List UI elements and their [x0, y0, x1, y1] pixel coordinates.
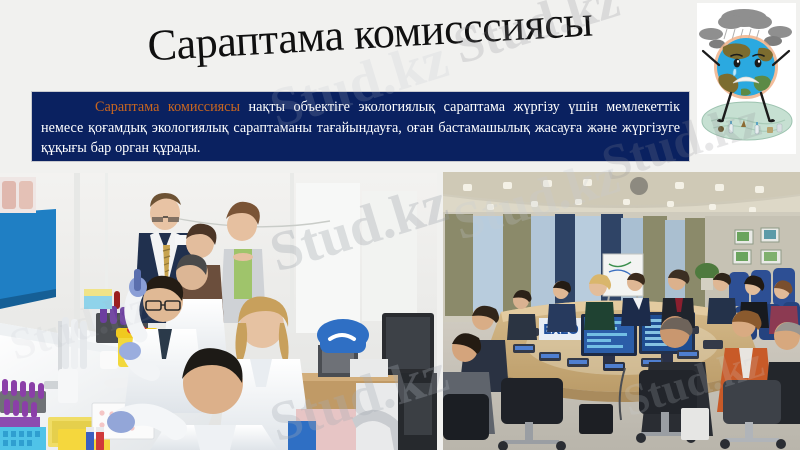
highlighted-term: Сараптама комиссиясы [95, 99, 240, 115]
page-title: Сараптама комисссиясы [59, 0, 681, 79]
lab-photo-graphic [0, 173, 437, 450]
title-container: Сараптама комисссиясы [60, 2, 680, 82]
commission-meeting-photo: EXEO [443, 172, 800, 450]
laboratory-inspection-photo [0, 173, 437, 450]
meeting-photo-graphic: EXEO [443, 172, 800, 450]
watermark: Stud.kz [447, 0, 626, 76]
presentation-slide: Сараптама комисссиясы Сараптама комиссия… [0, 0, 800, 450]
sad-earth-icon [697, 3, 796, 154]
definition-text-box: Сараптама комиссиясы нақты объектіге эко… [31, 91, 690, 162]
definition-paragraph: Сараптама комиссиясы нақты объектіге эко… [41, 97, 680, 159]
earth-illustration-card [697, 3, 796, 154]
